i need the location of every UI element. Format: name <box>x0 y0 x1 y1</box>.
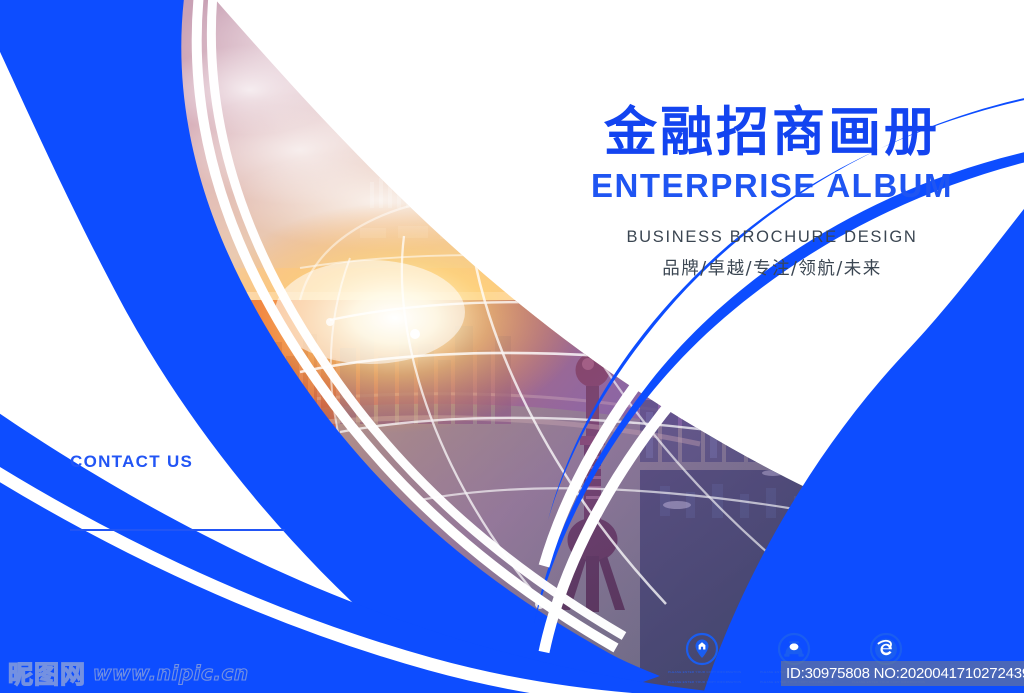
nipic-watermark: 昵图网 www.nipic.cn <box>8 655 249 691</box>
page-title-chinese: 金融招商画册 <box>582 104 962 161</box>
footer-caption-line2: PLEASE ENTER YOUR COPY INFORMATION <box>668 680 736 686</box>
subtitle-chinese: 品牌/卓越/专注/领航/未来 <box>582 255 962 280</box>
page-title-english: ENTERPRISE ALBUM <box>582 165 962 206</box>
contact-us-label: CONTACT US <box>70 452 330 472</box>
contact-divider <box>70 529 285 531</box>
contact-block: CONTACT US <box>70 452 330 531</box>
nipic-watermark-cn: 昵图网 <box>8 655 86 691</box>
title-block: 金融招商画册 ENTERPRISE ALBUM BUSINESS BROCHUR… <box>582 104 962 280</box>
image-id-watermark: ID:30975808 NO:20200417102724396000 <box>781 661 1024 686</box>
footer-caption-line1: PLEASE ENTER YOUR COPY INFORMATION <box>668 670 736 676</box>
nipic-watermark-url: www.nipic.cn <box>93 661 249 685</box>
subtitle-english: BUSINESS BROCHURE DESIGN <box>582 228 962 247</box>
footer-item-address[interactable]: PLEASE ENTER YOUR COPY INFORMATION PLEAS… <box>668 632 736 685</box>
brochure-cover-poster: 金融招商画册 ENTERPRISE ALBUM BUSINESS BROCHUR… <box>0 0 1024 693</box>
location-pin-icon <box>685 632 719 666</box>
